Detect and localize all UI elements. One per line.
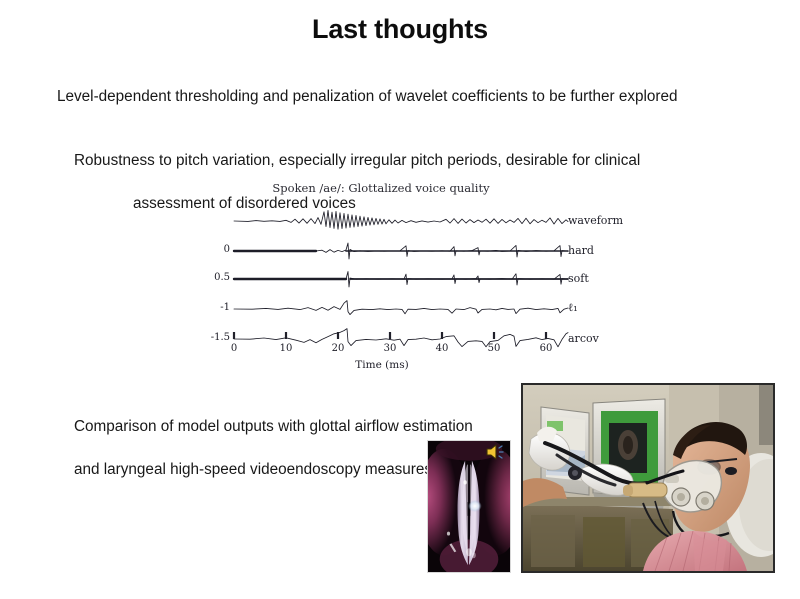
- y-label-hard: 0: [224, 244, 230, 255]
- presentation-slide: Last thoughts Level-dependent thresholdi…: [0, 0, 800, 599]
- x-tick-label-10: 10: [280, 343, 293, 354]
- x-tick-label-30: 30: [384, 343, 397, 354]
- bullet-comparison-line-1: Comparison of model outputs with glottal…: [74, 418, 473, 435]
- clinic-photo-graphic: [523, 385, 773, 571]
- series-label-hard: hard: [568, 244, 594, 257]
- series-label-waveform-box: waveform: [568, 214, 638, 228]
- bullet-robustness-line-1: Robustness to pitch variation, especiall…: [74, 152, 640, 169]
- page-title: Last thoughts: [0, 14, 800, 45]
- series-label-soft: soft: [568, 272, 589, 285]
- figure-x-axis: 0 10 20 30 40 50 60 Time (ms): [196, 331, 596, 371]
- series-label-l1: ℓ₁: [568, 301, 578, 314]
- x-tick-label-0: 0: [231, 343, 237, 354]
- speaker-icon-glyph: [485, 442, 509, 462]
- trace-waveform: [234, 210, 568, 229]
- x-tick-label-40: 40: [436, 343, 449, 354]
- y-label-soft-box: 0.5: [196, 272, 230, 286]
- x-tick-label-20: 20: [332, 343, 345, 354]
- x-axis-ticks-svg: [196, 331, 596, 343]
- speaker-icon[interactable]: [485, 442, 509, 462]
- y-label-soft: 0.5: [214, 272, 230, 283]
- x-tick-label-60: 60: [540, 343, 553, 354]
- figure-title: Spoken /ae/: Glottalized voice quality: [196, 181, 566, 195]
- waveform-figure: Spoken /ae/: Glottalized voice quality 0…: [196, 181, 596, 373]
- series-label-l1-box: ℓ₁: [568, 301, 638, 315]
- figure-plot-area: 0 0.5 -1 -1.5: [196, 199, 596, 349]
- y-label-hard-box: 0: [196, 244, 230, 258]
- figure-traces-svg: [196, 199, 596, 349]
- bullet-comparison-line-2: and laryngeal high-speed videoendoscopy …: [74, 461, 432, 478]
- bullet-text-thresholding: Level-dependent thresholding and penaliz…: [57, 86, 757, 108]
- laryngeal-endoscopy-image: [427, 440, 511, 573]
- y-label-l1-box: -1: [196, 302, 230, 316]
- series-label-soft-box: soft: [568, 272, 638, 286]
- clinical-recording-setup-photo: [521, 383, 775, 573]
- x-axis-title: Time (ms): [232, 359, 532, 371]
- x-tick-label-50: 50: [488, 343, 501, 354]
- series-label-hard-box: hard: [568, 244, 638, 258]
- y-label-l1: -1: [220, 302, 230, 313]
- trace-l1: [234, 301, 568, 315]
- series-label-waveform: waveform: [568, 214, 623, 227]
